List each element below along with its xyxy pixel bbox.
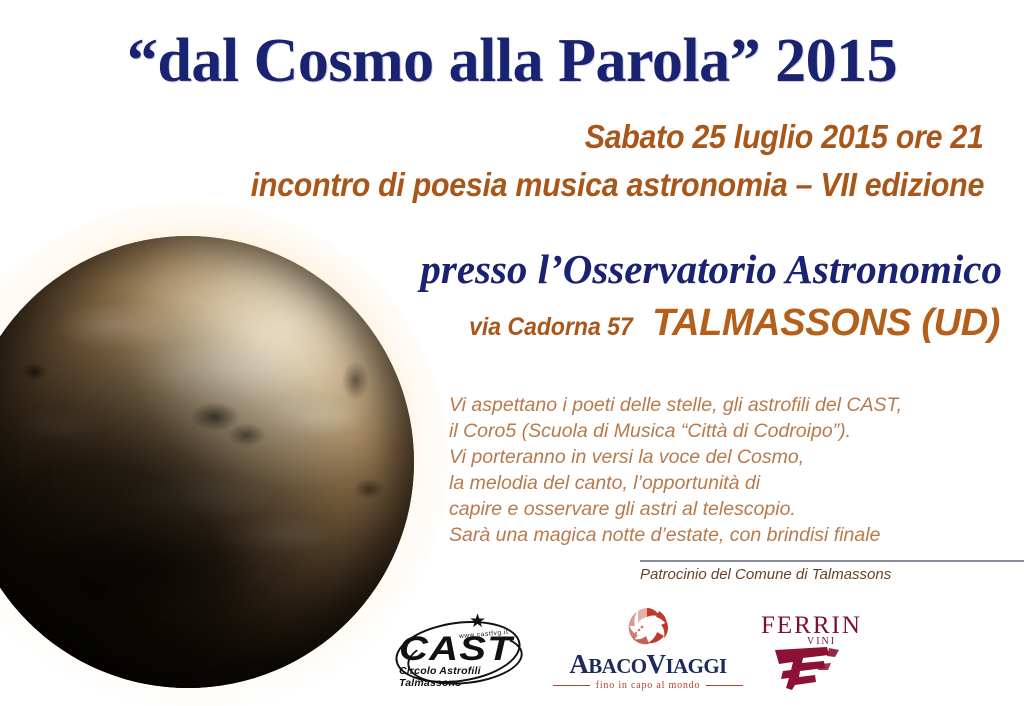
planet-landmass-layer (0, 236, 414, 688)
planet-limb-darkening (0, 236, 414, 688)
description-line: capire e osservare gli astri al telescop… (449, 496, 902, 522)
event-poster: “dal Cosmo alla Parola” 2015 Sabato 25 l… (0, 0, 1024, 706)
description-line: il Coro5 (Scuola di Musica “Città di Cod… (449, 418, 902, 444)
page-title: “dal Cosmo alla Parola” 2015 (0, 26, 1024, 97)
planet-cloud-layer (0, 236, 414, 688)
planet-terminator-shading (0, 236, 414, 688)
abaco-word-v: V (647, 649, 666, 679)
description-line: la melodia del canto, l’opportunità di (449, 470, 902, 496)
abaco-wordmark: ABACOVIAGGI (553, 649, 743, 680)
planet-sphere (0, 236, 414, 688)
divider-rule (640, 560, 1024, 562)
ferrin-f-mark-icon (769, 644, 845, 692)
description-line: Vi aspettano i poeti delle stelle, gli a… (449, 392, 902, 418)
venue-address: via Cadorna 57 TALMASSONS (UD) (462, 302, 1000, 345)
ferrin-logo: FERRIN VINI (755, 606, 885, 692)
abaco-word-baco: BACO (588, 654, 646, 678)
abaco-pinwheel-icon (615, 604, 679, 648)
cast-logo: CAST ★ www.castfvg.it Circolo Astrofili … (393, 608, 543, 688)
abacoviaggi-logo: ABACOVIAGGI fino in capo al mondo (553, 604, 743, 692)
abaco-rule-left (553, 685, 590, 686)
sponsor-logos: CAST ★ www.castfvg.it Circolo Astrofili … (385, 600, 905, 700)
event-description: Vi aspettano i poeti delle stelle, gli a… (449, 392, 902, 548)
planet-rim-highlight (0, 236, 414, 688)
description-line: Vi porteranno in versi la voce del Cosmo… (449, 444, 902, 470)
address-street: via Cadorna 57 (469, 313, 633, 342)
abaco-word-a: A (569, 649, 588, 679)
abaco-tagline: fino in capo al mondo (596, 680, 701, 691)
abaco-word-iaggi: IAGGI (665, 654, 726, 678)
event-subtitle-line: incontro di poesia musica astronomia – V… (251, 166, 984, 204)
cast-tagline: Circolo Astrofili Talmassons (399, 665, 543, 689)
planet-earth-illustration (0, 236, 414, 688)
address-town: TALMASSONS (UD) (652, 302, 1000, 345)
planet-glow (0, 202, 448, 706)
abaco-tagline-row: fino in capo al mondo (553, 680, 743, 691)
star-icon: ★ (469, 612, 486, 631)
venue-name: presso l’Osservatorio Astronomico (420, 245, 1002, 293)
planet-base-layer (0, 236, 414, 688)
description-line: Sarà una magica notte d’estate, con brin… (449, 522, 902, 548)
sponsorship-note: Patrocinio del Comune di Talmassons (640, 566, 891, 583)
event-date-line: Sabato 25 luglio 2015 ore 21 (585, 118, 984, 156)
abaco-rule-right (706, 685, 743, 686)
